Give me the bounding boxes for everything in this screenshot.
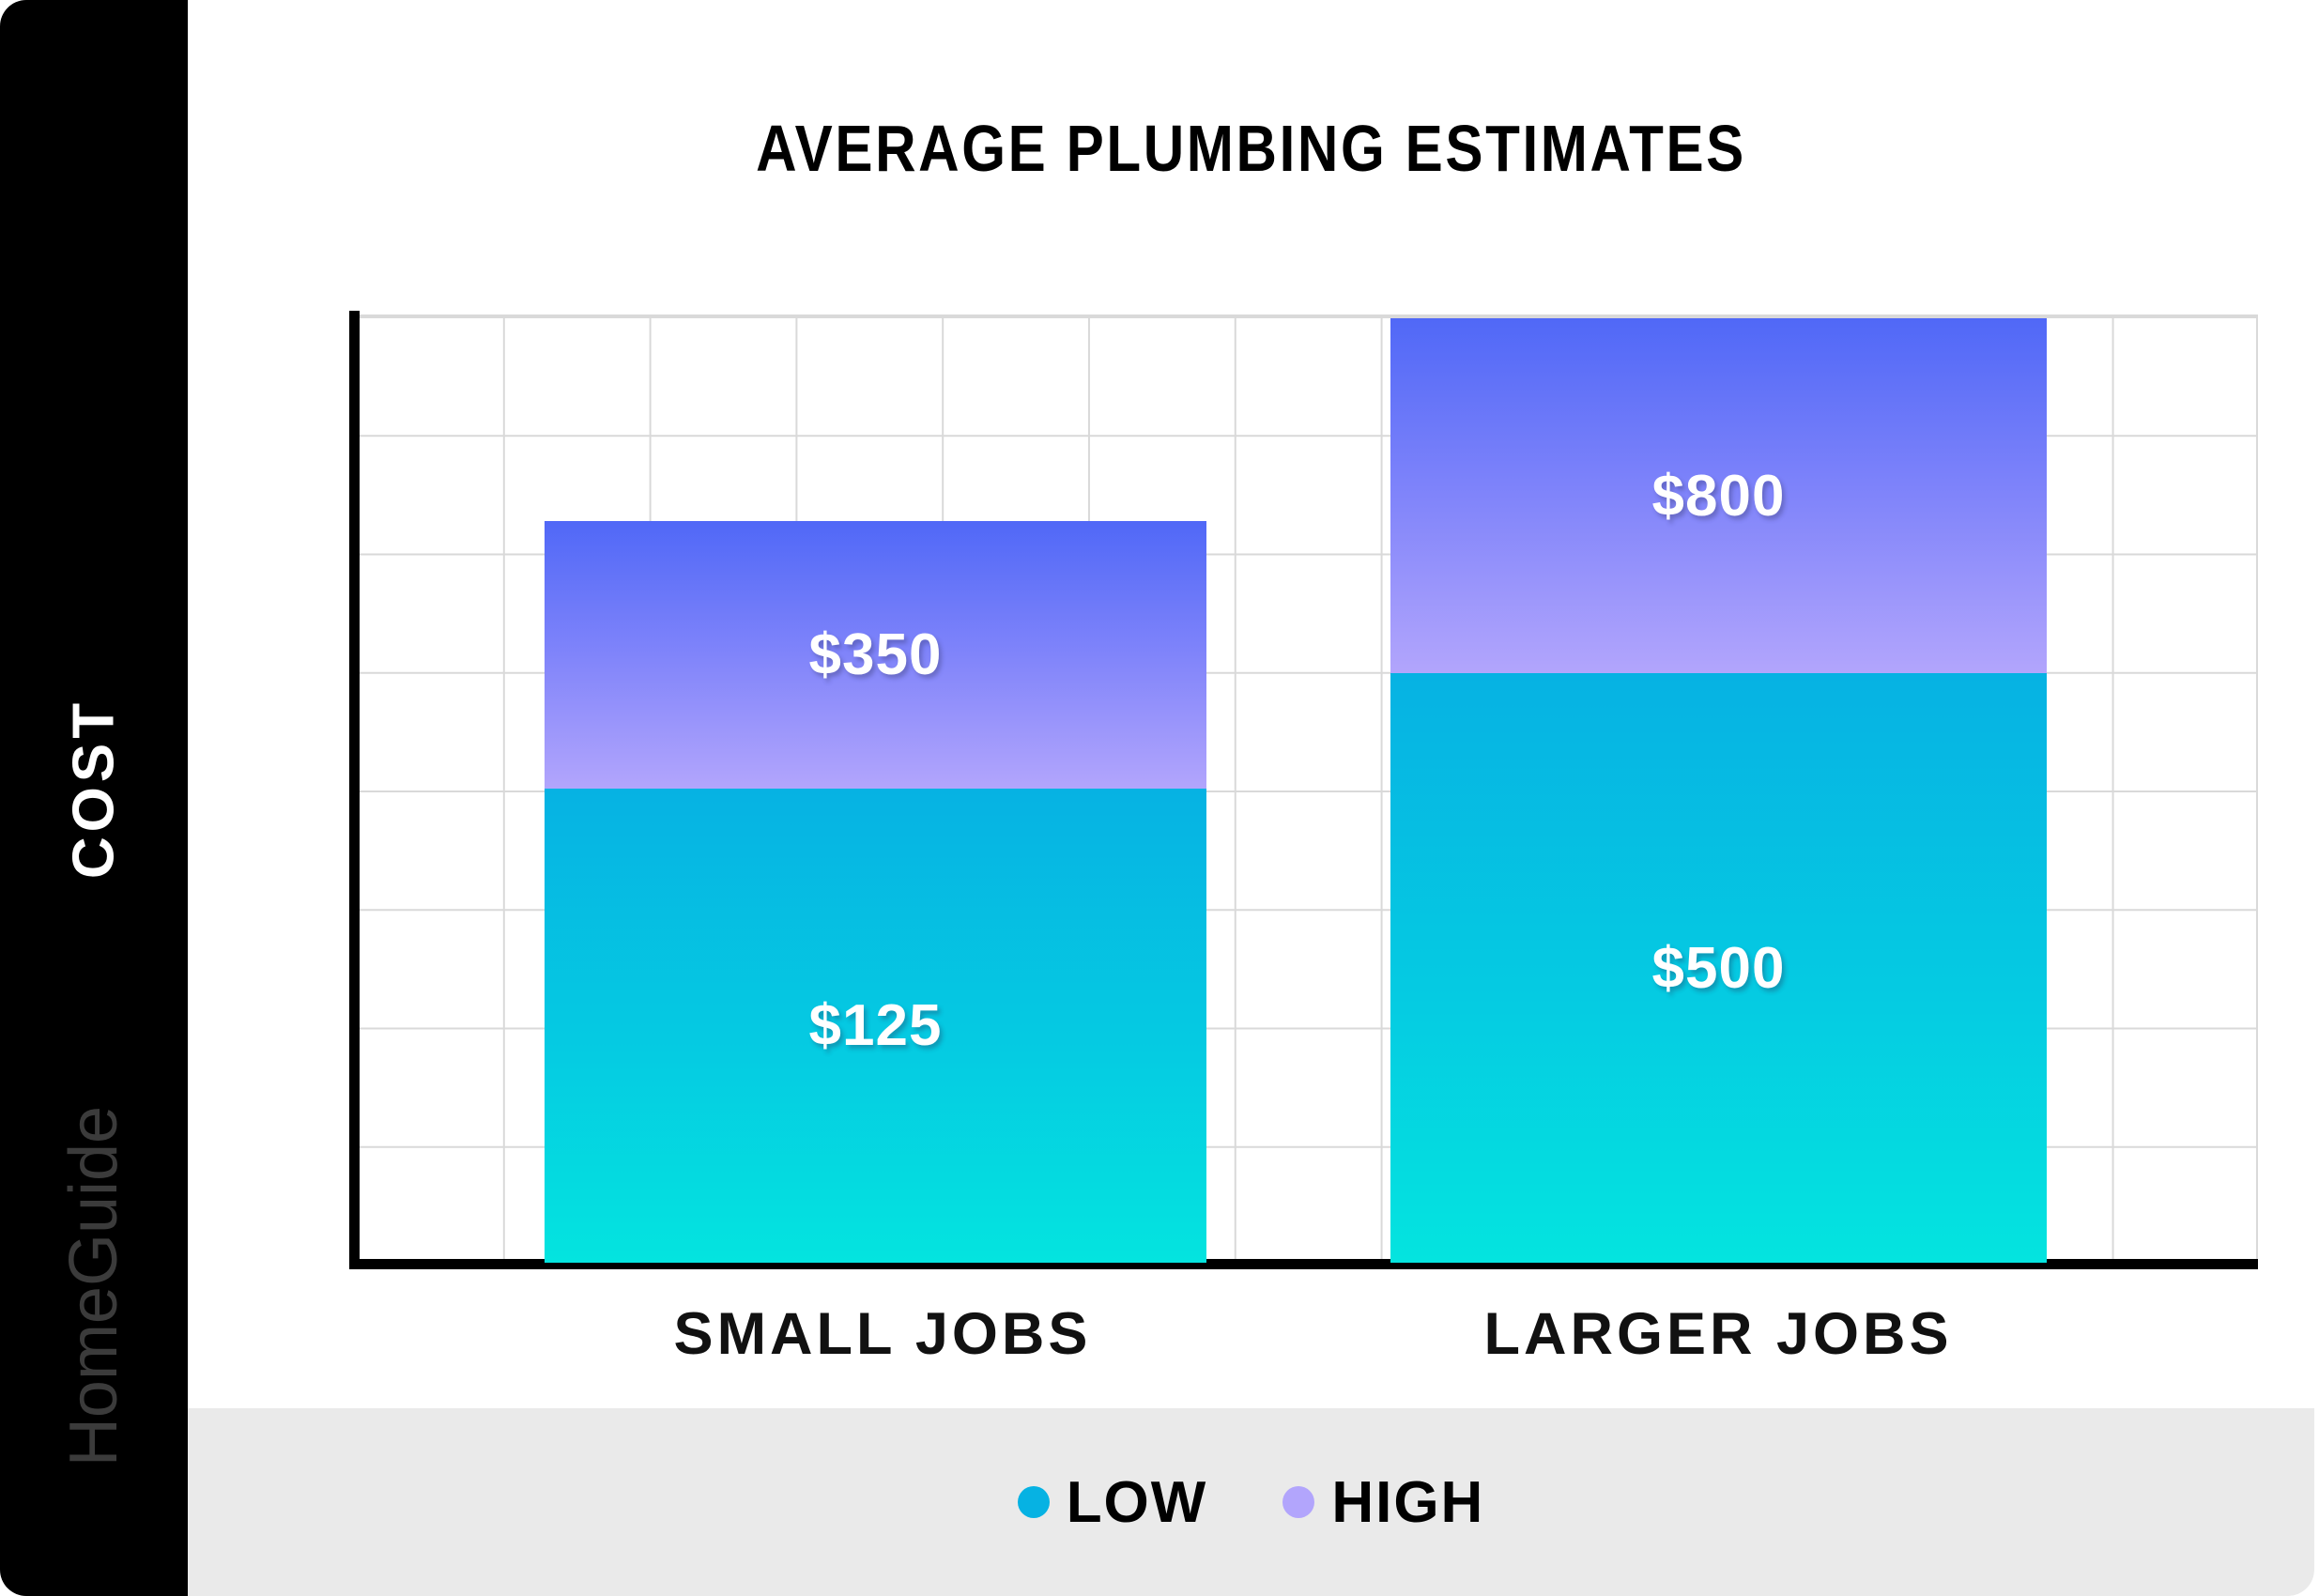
legend-item-high[interactable]: HIGH <box>1282 1469 1484 1536</box>
legend: LOW HIGH <box>188 1408 2314 1596</box>
bar-label-high-larger-jobs: $800 <box>1652 463 1786 529</box>
left-rail: COST HomeGuide <box>0 0 188 1596</box>
bar-label-low-larger-jobs: $500 <box>1652 935 1786 1002</box>
legend-label-high: HIGH <box>1331 1469 1484 1536</box>
bar-segment-low-larger-jobs[interactable]: $500 <box>1390 673 2047 1263</box>
plot-area: $350 $125 $800 $500 <box>357 315 2258 1263</box>
legend-dot-icon-high <box>1282 1486 1314 1518</box>
legend-item-low[interactable]: LOW <box>1018 1469 1208 1536</box>
bar-label-high-small-jobs: $350 <box>809 622 943 688</box>
chart-card: AVERAGE PLUMBING ESTIMATES $350 $125 $80… <box>188 0 2314 1596</box>
bar-label-low-small-jobs: $125 <box>809 992 943 1059</box>
y-axis-line <box>349 311 360 1265</box>
y-axis-label: COST <box>61 698 128 879</box>
bar-segment-high-small-jobs[interactable]: $350 <box>545 521 1206 789</box>
x-tick-label-larger-jobs: LARGER JOBS <box>1202 1300 2235 1368</box>
bar-small-jobs[interactable]: $350 $125 <box>545 318 1206 1263</box>
bar-larger-jobs[interactable]: $800 $500 <box>1390 318 2047 1263</box>
legend-label-low: LOW <box>1067 1469 1208 1536</box>
bar-segment-low-small-jobs[interactable]: $125 <box>545 789 1206 1263</box>
page-title: AVERAGE PLUMBING ESTIMATES <box>337 111 2166 186</box>
bar-segment-high-larger-jobs[interactable]: $800 <box>1390 318 2047 673</box>
homeguide-watermark: HomeGuide <box>55 1106 132 1466</box>
legend-dot-icon-low <box>1018 1486 1050 1518</box>
